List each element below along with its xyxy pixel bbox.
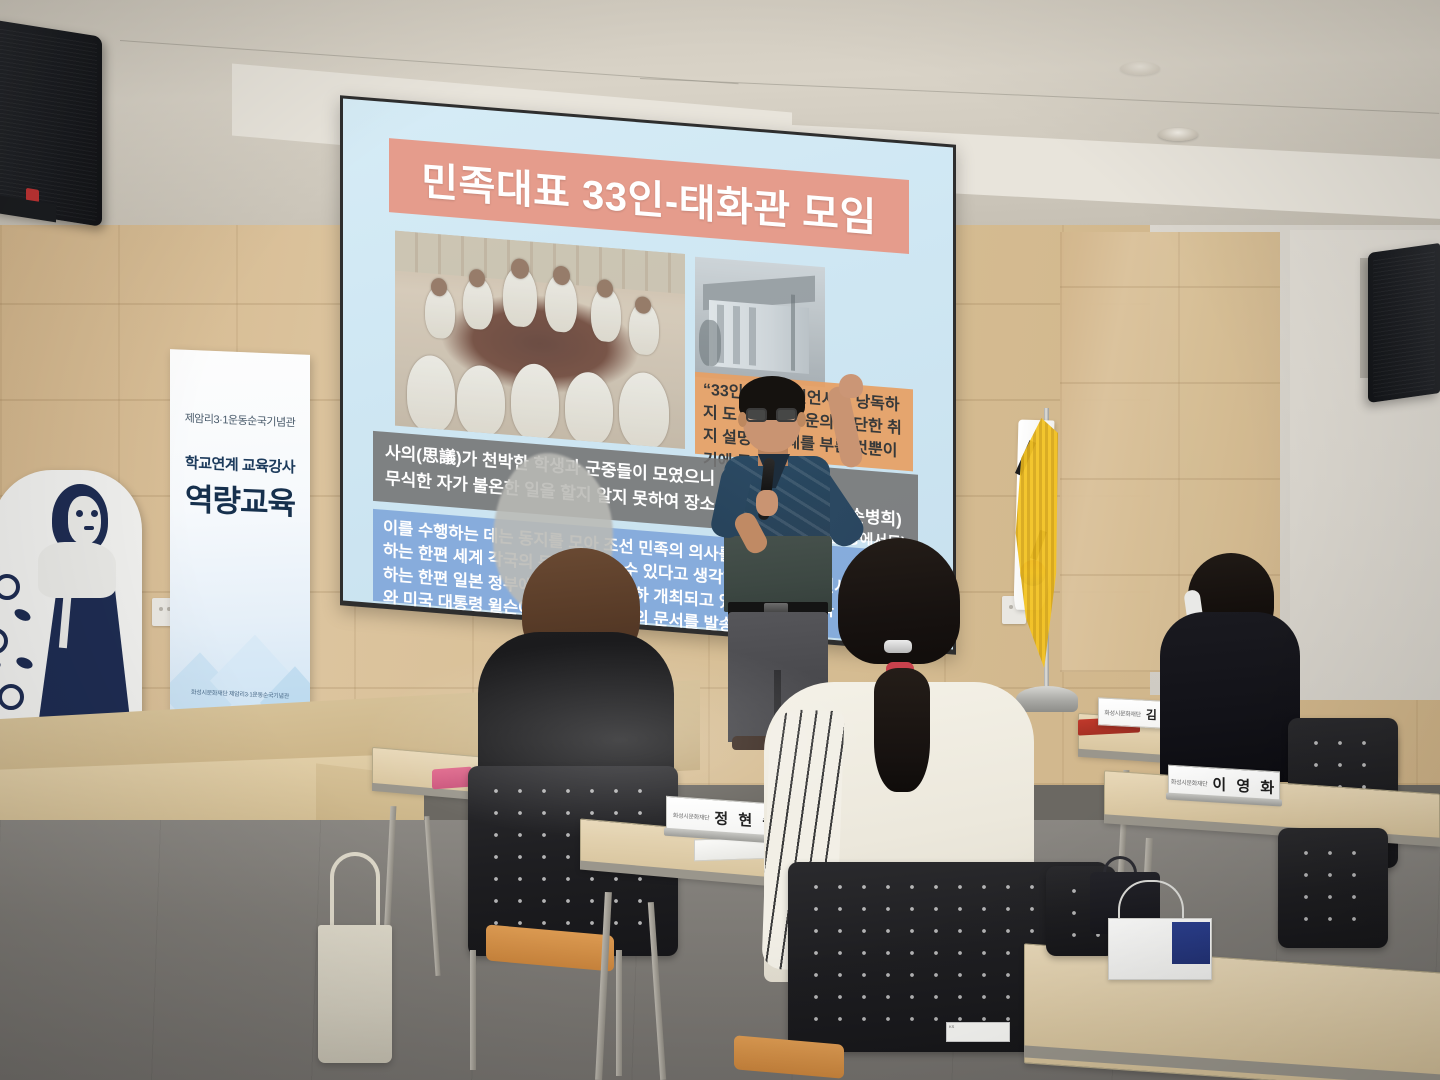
nameplate-org: 화성시문화재단 — [673, 810, 710, 822]
downlight-icon — [1158, 128, 1198, 141]
rollup-banner: 제암리3·1운동순국기념관 학교연계 교육강사 역량교육 화성시문화재단 제암리… — [170, 349, 310, 727]
painting-figure-head — [635, 296, 651, 314]
outlet-holes-icon — [1009, 605, 1013, 609]
nameplate-org: 화성시문화재단 — [1171, 776, 1208, 787]
tote-bag — [318, 925, 392, 1063]
painting-figure-front — [565, 370, 613, 446]
glasses-icon — [746, 408, 799, 423]
flower-icon — [0, 628, 8, 654]
slide-photo-assembly — [395, 231, 685, 449]
chair-leg — [616, 950, 622, 1076]
glasses-lens — [746, 408, 767, 422]
painting-figure-front — [407, 354, 455, 434]
banner-org: 제암리3·1운동순국기념관 — [170, 409, 310, 431]
paper-bag-blue-panel — [1172, 922, 1210, 964]
glasses-lens — [776, 408, 797, 422]
banner-title: 역량교육 — [170, 473, 310, 524]
leaf-icon — [13, 607, 33, 623]
leaf-icon — [0, 659, 2, 675]
leaf-icon — [15, 655, 35, 671]
flower-icon — [0, 574, 20, 600]
pink-object-on-desk — [432, 767, 472, 790]
speaker-grille — [0, 25, 97, 221]
chair-backrest — [1278, 828, 1388, 948]
painting-figure-head — [469, 269, 485, 288]
attendee-torso — [1160, 612, 1300, 782]
standee-face — [68, 496, 101, 544]
outlet-holes-icon — [159, 607, 163, 611]
painting-figure-head — [511, 258, 529, 279]
presenter-hand-raised — [839, 374, 863, 398]
nameplate-name: 이 영 화 — [1212, 773, 1277, 798]
chair-spec-label: KS — [946, 1022, 1010, 1042]
pa-speaker-right — [1368, 243, 1440, 403]
attendee-ponytail — [874, 668, 930, 792]
presenter-shirt-lower — [724, 536, 832, 612]
downlight-icon — [1120, 62, 1160, 75]
nameplate-org: 화성시문화재단 — [1104, 707, 1141, 718]
painting-figure-front — [457, 364, 505, 438]
hair-clip-icon — [884, 640, 912, 653]
chair-perforation-pattern — [1294, 842, 1372, 934]
chair-leg — [470, 950, 476, 1070]
flower-icon — [0, 684, 24, 710]
presenter-hand-mic — [756, 490, 778, 516]
standee-eye — [91, 510, 98, 517]
standee-eye — [76, 510, 83, 517]
tote-bag-handle — [330, 852, 380, 932]
slide-title: 민족대표 33인-태화관 모임 — [421, 149, 877, 244]
lecture-hall-photo: 민족대표 33인-태화관 모임 — [0, 0, 1440, 1080]
pa-speaker-left — [0, 19, 102, 227]
speaker-grille — [1373, 249, 1435, 398]
painting-figure-head — [597, 279, 613, 298]
painting-figure-front — [619, 371, 669, 449]
flag-stand-base — [1016, 686, 1078, 712]
painting-figure-head — [553, 265, 570, 285]
painting-figure-head — [431, 278, 447, 297]
standee-jeogori — [38, 542, 116, 598]
painting-figure-front — [511, 362, 559, 442]
standee-mouth — [84, 526, 94, 530]
